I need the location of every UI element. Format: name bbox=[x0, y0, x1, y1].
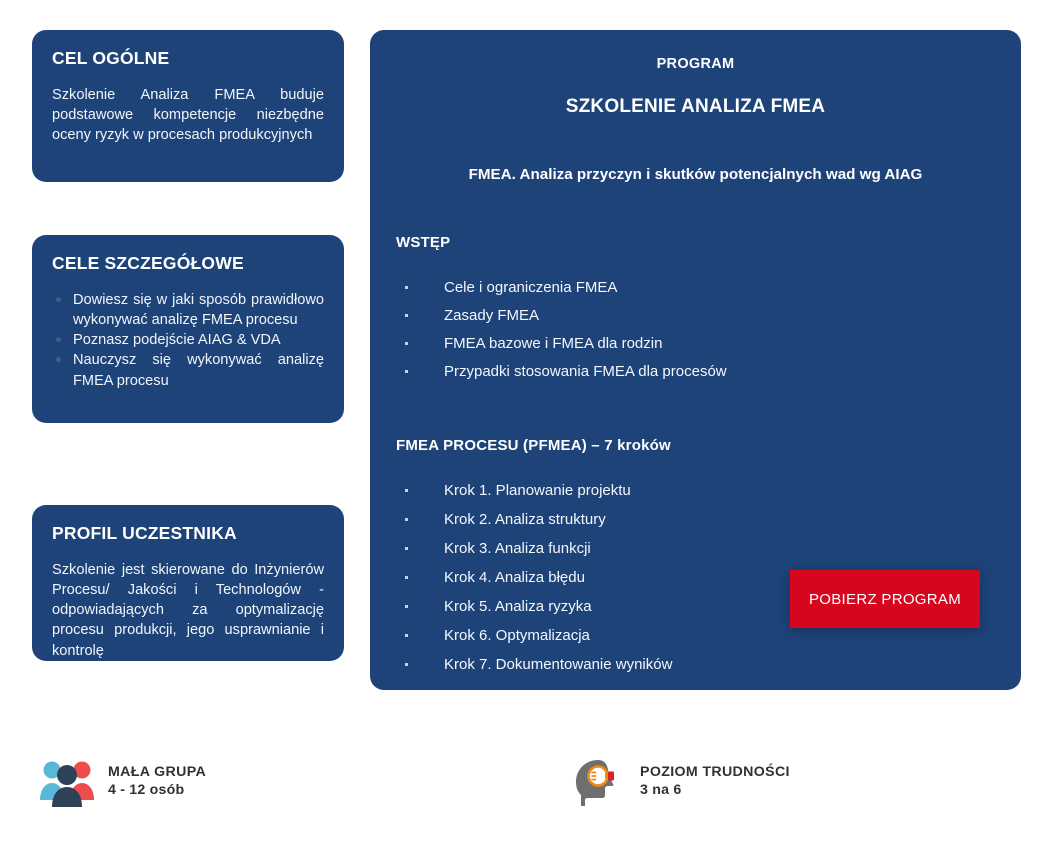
intro-topics-list: Cele i ograniczenia FMEA Zasady FMEA FME… bbox=[396, 273, 995, 385]
left-info-column: CEL OGÓLNE Szkolenie Analiza FMEA buduje… bbox=[32, 30, 344, 661]
list-item: Krok 1. Planowanie projektu bbox=[396, 476, 995, 505]
section-heading-intro: WSTĘP bbox=[396, 234, 995, 251]
list-item: Zasady FMEA bbox=[396, 301, 995, 329]
card-detailed-goals-title: CELE SZCZEGÓŁOWE bbox=[52, 253, 324, 274]
page-title: SZKOLENIE ANALIZA FMEA bbox=[396, 96, 995, 118]
card-general-goal-title: CEL OGÓLNE bbox=[52, 48, 324, 69]
meta-item-difficulty: POZIOM TRUDNOŚCI 3 na 6 bbox=[572, 756, 790, 808]
head-with-lightbulb-icon bbox=[572, 756, 628, 808]
list-item: Krok 7. Dokumentowanie wyników bbox=[396, 650, 995, 679]
program-eyebrow: PROGRAM bbox=[396, 56, 995, 72]
difficulty-text: POZIOM TRUDNOŚCI 3 na 6 bbox=[640, 764, 790, 800]
card-detailed-goals: CELE SZCZEGÓŁOWE Dowiesz się w jaki spos… bbox=[32, 235, 344, 423]
list-item: Nauczysz się wykonywać analizę FMEA proc… bbox=[52, 350, 324, 390]
card-general-goal-body: Szkolenie Analiza FMEA buduje podstawowe… bbox=[52, 85, 324, 145]
program-subtitle: FMEA. Analiza przyczyn i skutków potencj… bbox=[396, 166, 995, 183]
list-item: FMEA bazowe i FMEA dla rodzin bbox=[396, 329, 995, 357]
group-size-text: MAŁA GRUPA 4 - 12 osób bbox=[108, 764, 206, 800]
detailed-goals-list: Dowiesz się w jaki sposób prawidłowo wyk… bbox=[52, 290, 324, 391]
list-item: Cele i ograniczenia FMEA bbox=[396, 273, 995, 301]
difficulty-value: 3 na 6 bbox=[640, 782, 790, 800]
list-item: Przypadki stosowania FMEA dla procesów bbox=[396, 357, 995, 385]
group-of-people-icon bbox=[38, 756, 96, 808]
card-general-goal: CEL OGÓLNE Szkolenie Analiza FMEA buduje… bbox=[32, 30, 344, 182]
list-item: Krok 3. Analiza funkcji bbox=[396, 534, 995, 563]
list-item: Krok 2. Analiza struktury bbox=[396, 505, 995, 534]
card-participant-profile-body: Szkolenie jest skierowane do Inżynierów … bbox=[52, 560, 324, 661]
group-size-label: MAŁA GRUPA bbox=[108, 764, 206, 782]
list-item: Dowiesz się w jaki sposób prawidłowo wyk… bbox=[52, 290, 324, 330]
difficulty-label: POZIOM TRUDNOŚCI bbox=[640, 764, 790, 782]
list-item: Poznasz podejście AIAG & VDA bbox=[52, 330, 324, 350]
meta-item-group-size: MAŁA GRUPA 4 - 12 osób bbox=[38, 756, 206, 808]
section-heading-pfmea-steps: FMEA PROCESU (PFMEA) – 7 kroków bbox=[396, 437, 995, 454]
group-size-value: 4 - 12 osób bbox=[108, 782, 206, 800]
meta-row: MAŁA GRUPA 4 - 12 osób POZIOM TRUDNOŚCI … bbox=[0, 752, 1042, 822]
training-offer-page: CEL OGÓLNE Szkolenie Analiza FMEA buduje… bbox=[0, 0, 1042, 843]
download-program-button[interactable]: POBIERZ PROGRAM bbox=[790, 570, 980, 628]
card-participant-profile: PROFIL UCZESTNIKA Szkolenie jest skierow… bbox=[32, 505, 344, 661]
card-participant-profile-title: PROFIL UCZESTNIKA bbox=[52, 523, 324, 544]
